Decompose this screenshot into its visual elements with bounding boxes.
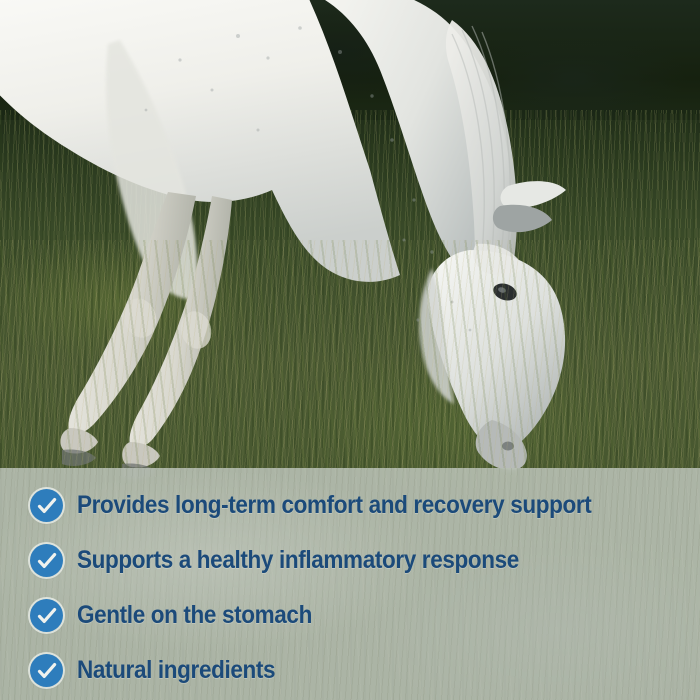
benefits-list: Provides long-term comfort and recovery … — [0, 468, 700, 698]
check-circle-icon — [30, 599, 63, 632]
benefit-label: Gentle on the stomach — [77, 603, 312, 628]
benefits-panel: Provides long-term comfort and recovery … — [0, 468, 700, 700]
list-item: Supports a healthy inflammatory response — [0, 533, 700, 588]
benefit-label: Supports a healthy inflammatory response — [77, 548, 519, 573]
benefit-label: Provides long-term comfort and recovery … — [77, 493, 591, 518]
list-item: Gentle on the stomach — [0, 588, 700, 643]
check-circle-icon — [30, 654, 63, 687]
list-item: Provides long-term comfort and recovery … — [0, 478, 700, 533]
product-benefit-image: Provides long-term comfort and recovery … — [0, 0, 700, 700]
check-circle-icon — [30, 544, 63, 577]
benefit-label: Natural ingredients — [77, 658, 275, 683]
check-circle-icon — [30, 489, 63, 522]
list-item: Natural ingredients — [0, 643, 700, 698]
